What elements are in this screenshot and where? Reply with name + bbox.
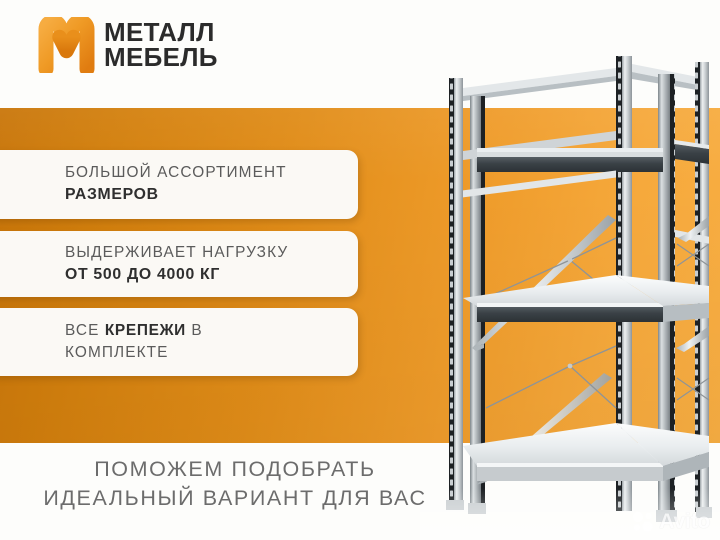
advertisement-banner: МЕТАЛЛ МЕБЕЛЬ БОЛЬШОЙ АССОРТИМЕНТ РАЗМЕР… — [0, 0, 720, 540]
feature-card-load-capacity: ВЫДЕРЖИВАЕТ НАГРУЗКУ ОТ 500 ДО 4000 КГ — [0, 231, 358, 297]
brand-wordmark: МЕТАЛЛ МЕБЕЛЬ — [104, 20, 218, 69]
bottom-tagline: ПОМОЖЕМ ПОДОБРАТЬ ИДЕАЛЬНЫЙ ВАРИАНТ ДЛЯ … — [0, 455, 470, 513]
feature-1-line-2: РАЗМЕРОВ — [65, 184, 358, 206]
avito-label: Avito — [659, 510, 710, 534]
feature-3-suffix: В — [186, 322, 203, 339]
feature-3-prefix: ВСЕ — [65, 322, 105, 339]
brand-logo: МЕТАЛЛ МЕБЕЛЬ — [38, 17, 218, 73]
avito-dots-icon — [632, 511, 654, 533]
feature-3-emphasis: КРЕПЕЖИ — [105, 322, 186, 339]
tagline-line-2: ИДЕАЛЬНЫЙ ВАРИАНТ ДЛЯ ВАС — [0, 484, 470, 513]
feature-3-line-1: ВСЕ КРЕПЕЖИ В — [65, 320, 358, 342]
brand-name-line2: МЕБЕЛЬ — [104, 45, 218, 70]
avito-watermark: Avito — [632, 510, 710, 534]
feature-2-line-1: ВЫДЕРЖИВАЕТ НАГРУЗКУ — [65, 242, 358, 264]
feature-card-assortment: БОЛЬШОЙ АССОРТИМЕНТ РАЗМЕРОВ — [0, 150, 358, 219]
feature-1-line-1: БОЛЬШОЙ АССОРТИМЕНТ — [65, 162, 358, 184]
tagline-line-1: ПОМОЖЕМ ПОДОБРАТЬ — [0, 455, 470, 484]
feature-3-line-2: КОМПЛЕКТЕ — [65, 342, 358, 364]
letter-m-logo-icon — [38, 17, 95, 73]
feature-2-line-2: ОТ 500 ДО 4000 КГ — [65, 264, 358, 286]
feature-card-fasteners: ВСЕ КРЕПЕЖИ В КОМПЛЕКТЕ — [0, 308, 358, 376]
